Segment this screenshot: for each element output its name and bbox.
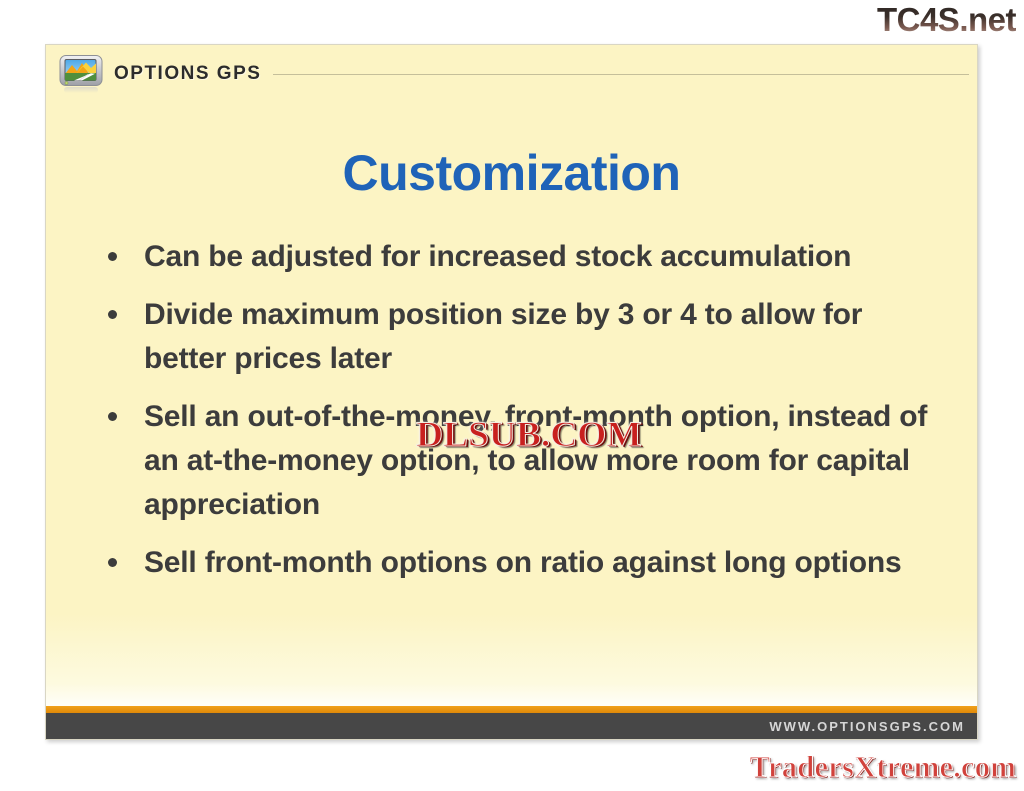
bullet-item: Divide maximum position size by 3 or 4 t… [96,293,946,381]
brand-name: OPTIONS GPS [114,63,261,85]
slide-footer: WWW.OPTIONSGPS.COM [46,713,977,739]
dlsub-watermark: DLSUB.COM [416,413,642,455]
slide-header: OPTIONS GPS [46,45,977,103]
header-divider [273,74,969,75]
tradersxtreme-watermark: TradersXtreme.com [749,749,1016,785]
bullet-marker-icon [108,310,117,319]
presentation-slide: OPTIONS GPS Customization Can be adjuste… [45,44,978,740]
bullet-text: Sell front-month options on ratio agains… [144,546,901,579]
tc4s-site-logo: TC4S.net [877,2,1016,38]
bullet-text: Divide maximum position size by 3 or 4 t… [144,298,862,375]
slide-title: Customization [46,143,977,203]
gps-device-icon [58,54,104,94]
footer-accent-bar [46,706,977,713]
bullet-marker-icon [108,558,117,567]
bullet-marker-icon [108,412,117,421]
bullet-item: Sell front-month options on ratio agains… [96,541,946,585]
bullet-item: Can be adjusted for increased stock accu… [96,235,946,279]
bullet-marker-icon [108,252,117,261]
footer-url: WWW.OPTIONSGPS.COM [769,719,965,734]
bullet-text: Can be adjusted for increased stock accu… [144,240,851,273]
